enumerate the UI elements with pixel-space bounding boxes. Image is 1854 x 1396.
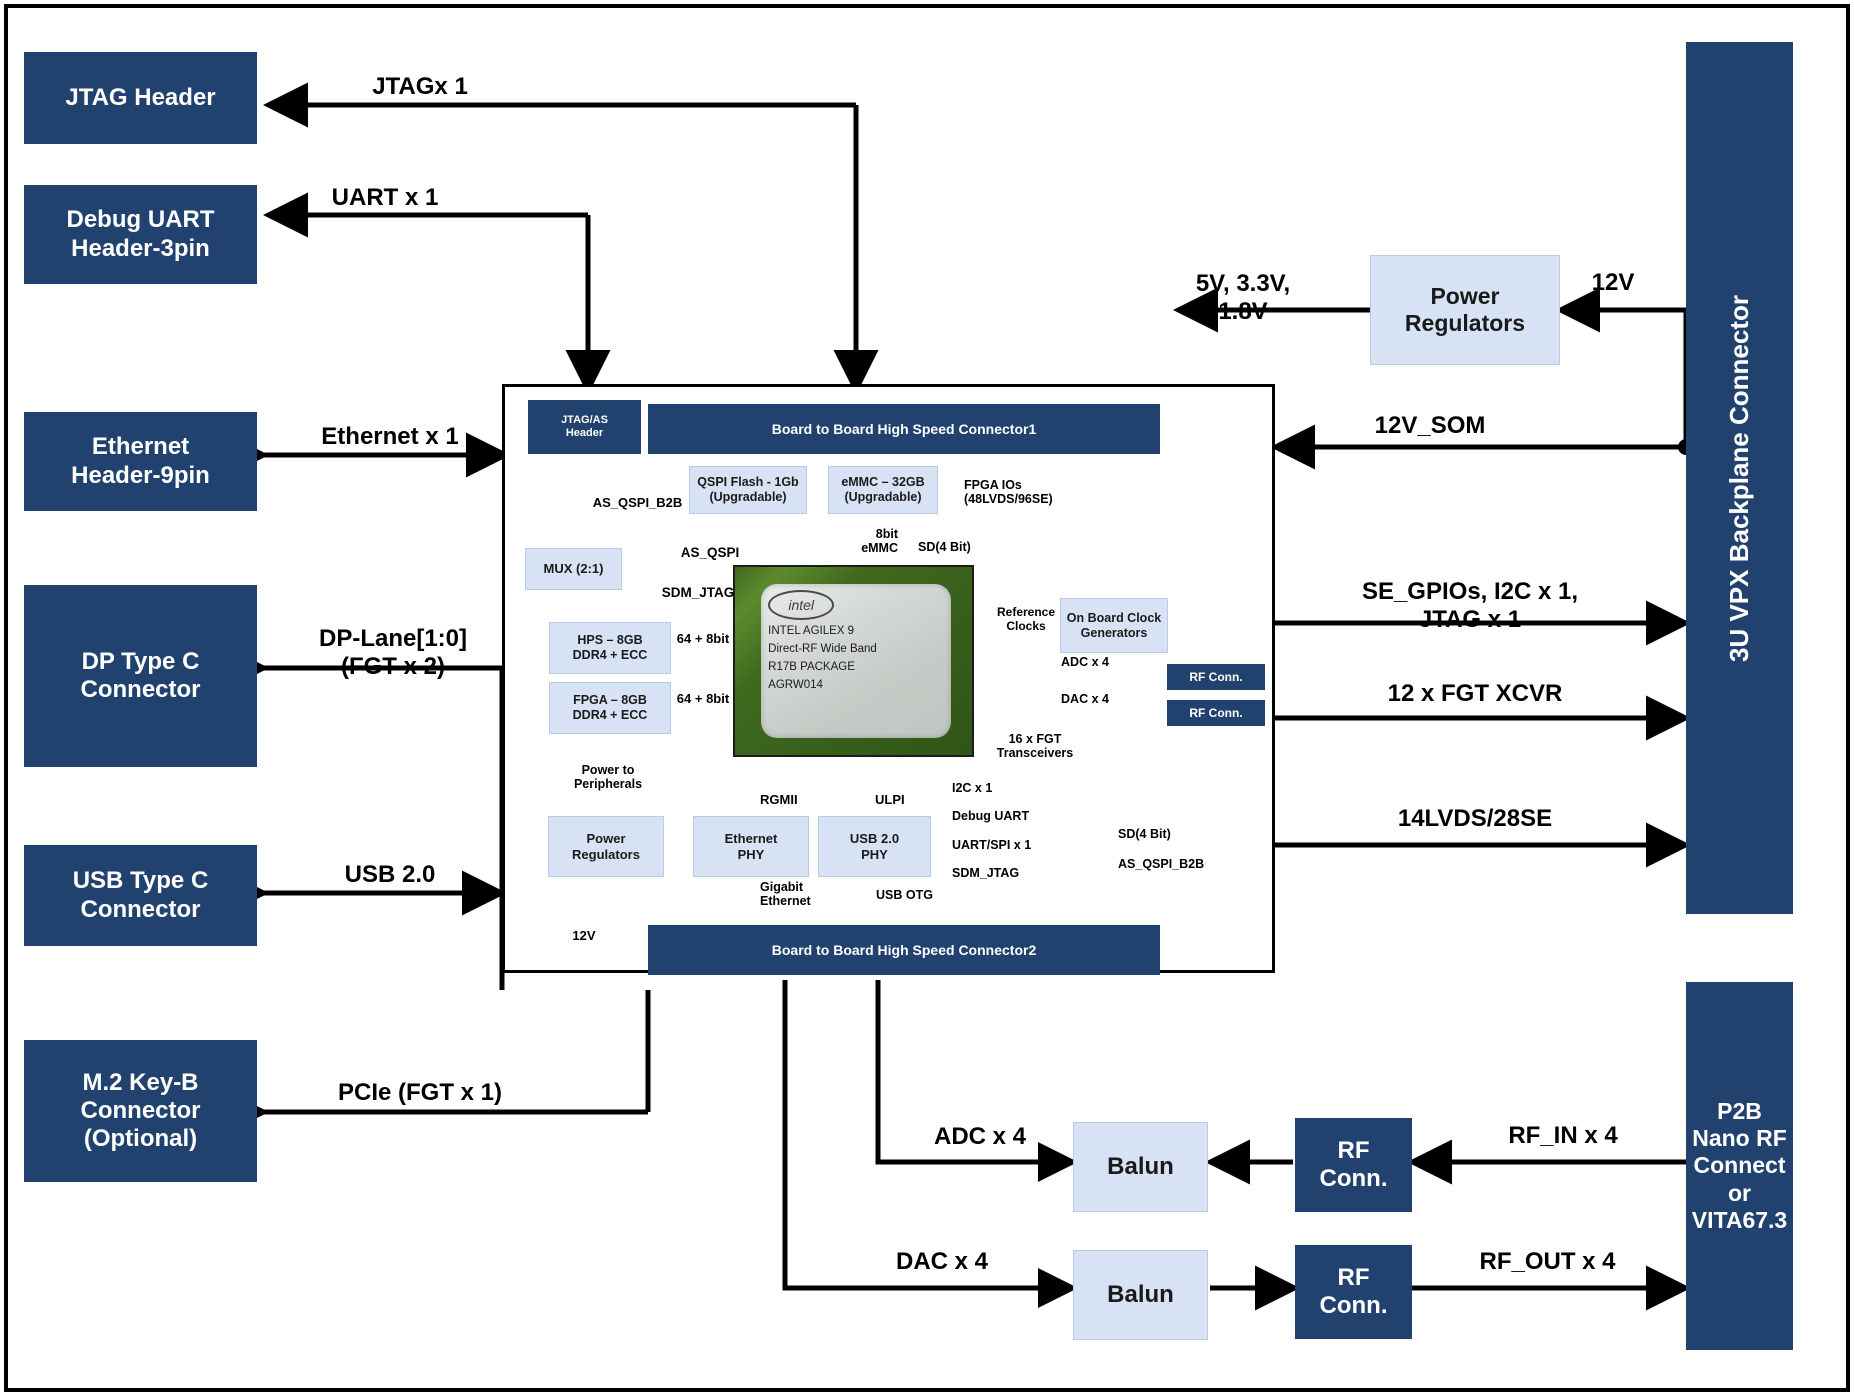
som-usb-phy-label: USB 2.0 PHY — [850, 831, 899, 862]
rf-conn-out-label: RF Conn. — [1320, 1264, 1388, 1321]
som-fpga-ddr-label: FPGA – 8GB DDR4 + ECC — [573, 693, 648, 723]
fgt-transceivers-label: 16 x FGT Transceivers — [984, 732, 1086, 761]
sdm-jtag-2-label: SDM_JTAG — [952, 866, 1062, 880]
left-block-label: JTAG Header — [65, 84, 215, 112]
rf-conn-in-label: RF Conn. — [1320, 1137, 1388, 1194]
left-block-label: M.2 Key-B Connector (Optional) — [81, 1069, 201, 1154]
som-b2b-connector2-label: Board to Board High Speed Connector2 — [772, 942, 1036, 959]
12v-label: 12V — [562, 929, 606, 944]
vpx-backplane-connector[interactable]: 3U VPX Backplane Connector — [1686, 42, 1793, 914]
left-block-dp-type-c-connector[interactable]: DP Type C Connector — [24, 585, 257, 767]
rf-out-x4-label: RF_OUT x 4 — [1440, 1248, 1655, 1276]
power-regulators-label: Power Regulators — [1405, 283, 1525, 337]
left-block-m2-key-b-connector[interactable]: M.2 Key-B Connector (Optional) — [24, 1040, 257, 1182]
som-clock-generators[interactable]: On Board Clock Generators — [1060, 598, 1168, 653]
som-ethernet-phy-label: Ethernet PHY — [725, 831, 778, 862]
as-qspi-label: AS_QSPI — [665, 545, 755, 561]
som-emmc-label: eMMC – 32GB (Upgradable) — [841, 475, 924, 505]
som-qspi-flash-label: QSPI Flash - 1Gb (Upgradable) — [697, 475, 798, 505]
left-block-label: Ethernet Header-9pin — [71, 433, 210, 490]
se-gpios-label: SE_GPIOs, I2C x 1, JTAG x 1 — [1290, 578, 1650, 633]
fpga-ios-label: FPGA IOs (48LVDS/96SE) — [964, 478, 1084, 507]
12v-som-label: 12V_SOM — [1310, 412, 1550, 440]
som-hps-ddr-label: HPS – 8GB DDR4 + ECC — [573, 633, 648, 663]
left-block-usb-type-c-connector[interactable]: USB Type C Connector — [24, 845, 257, 946]
som-clock-generators-label: On Board Clock Generators — [1067, 611, 1161, 641]
balun-dac[interactable]: Balun — [1073, 1250, 1208, 1340]
as-qspi-b2b-label: AS_QSPI_B2B — [575, 496, 700, 511]
som-hps-ddr[interactable]: HPS – 8GB DDR4 + ECC — [549, 622, 671, 674]
som-jtag-as-header[interactable]: JTAG/AS Header — [528, 400, 641, 454]
som-b2b-connector1[interactable]: Board to Board High Speed Connector1 — [648, 404, 1160, 454]
som-mux-label: MUX (2:1) — [544, 561, 604, 576]
usb20-label: USB 2.0 — [300, 861, 480, 889]
i2c-x1-label: I2C x 1 — [952, 781, 1062, 795]
som-rf-conn-adc[interactable]: RF Conn. — [1167, 664, 1265, 690]
intel-logo-text: intel — [788, 597, 814, 613]
sd4bit-2-label: SD(4 Bit) — [1118, 827, 1208, 841]
ddr-bus-1-label: 64 + 8bit — [663, 632, 743, 647]
dp-lane-label: DP-Lane[1:0] (FGT x 2) — [278, 625, 508, 680]
rf-in-x4-label: RF_IN x 4 — [1463, 1122, 1663, 1150]
reference-clocks-label: Reference Clocks — [986, 606, 1066, 634]
power-to-peripherals-label: Power to Peripherals — [552, 763, 664, 792]
som-rf-conn-dac-label: RF Conn. — [1189, 706, 1242, 720]
power-regulators-block[interactable]: Power Regulators — [1370, 255, 1560, 365]
lvds-label: 14LVDS/28SE — [1340, 805, 1610, 833]
som-qspi-flash[interactable]: QSPI Flash - 1Gb (Upgradable) — [689, 466, 807, 514]
rf-conn-in[interactable]: RF Conn. — [1295, 1118, 1412, 1212]
debug-uart-label: Debug UART — [952, 809, 1067, 823]
som-rf-conn-adc-label: RF Conn. — [1189, 670, 1242, 684]
som-b2b-connector2[interactable]: Board to Board High Speed Connector2 — [648, 925, 1160, 975]
left-block-label: Debug UART Header-3pin — [67, 206, 215, 263]
8bit-emmc-label: 8bit eMMC — [822, 527, 898, 556]
som-jtag-as-header-label: JTAG/AS Header — [561, 414, 608, 440]
power-rails-label: 5V, 3.3V, 1.8V — [1148, 270, 1338, 325]
balun-adc-label: Balun — [1107, 1153, 1174, 1181]
som-ethernet-phy[interactable]: Ethernet PHY — [693, 816, 809, 877]
rgmii-label: RGMII — [760, 793, 832, 808]
ulpi-label: ULPI — [875, 793, 945, 808]
som-rf-conn-dac[interactable]: RF Conn. — [1167, 700, 1265, 726]
left-block-label: DP Type C Connector — [81, 648, 201, 705]
p2b-nano-rf-connector[interactable]: P2B Nano RF Connect or VITA67.3 — [1686, 982, 1793, 1350]
fpga-chip-markings: INTEL AGILEX 9 Direct-RF Wide Band R17B … — [768, 623, 877, 694]
dac-x4-label: DAC x 4 — [1040, 692, 1130, 706]
som-power-regulators[interactable]: Power Regulators — [548, 816, 664, 877]
som-fpga-ddr[interactable]: FPGA – 8GB DDR4 + ECC — [549, 682, 671, 734]
as-qspi-b2b-2-label: AS_QSPI_B2B — [1118, 857, 1243, 871]
intel-logo-icon: intel — [768, 590, 834, 620]
dac-x4-bottom-label: DAC x 4 — [862, 1248, 1022, 1276]
left-block-debug-uart-header[interactable]: Debug UART Header-3pin — [24, 185, 257, 284]
balun-adc[interactable]: Balun — [1073, 1122, 1208, 1212]
jtag-x1-label: JTAGx 1 — [330, 73, 510, 101]
som-power-regulators-label: Power Regulators — [572, 831, 640, 862]
p2b-nano-rf-connector-label: P2B Nano RF Connect or VITA67.3 — [1692, 1098, 1787, 1234]
ddr-bus-2-label: 64 + 8bit — [663, 692, 743, 707]
left-block-label: USB Type C Connector — [73, 867, 209, 924]
som-usb-phy[interactable]: USB 2.0 PHY — [818, 816, 931, 877]
uart-spi-label: UART/SPI x 1 — [952, 838, 1072, 852]
fpga-chip-package[interactable]: intel INTEL AGILEX 9 Direct-RF Wide Band… — [733, 565, 974, 757]
balun-dac-label: Balun — [1107, 1281, 1174, 1309]
usb-otg-label: USB OTG — [876, 888, 962, 902]
12v-input-label: 12V — [1573, 269, 1653, 297]
left-block-ethernet-header[interactable]: Ethernet Header-9pin — [24, 412, 257, 511]
block-diagram-canvas: JTAG Header Debug UART Header-3pin Ether… — [0, 0, 1854, 1396]
som-emmc[interactable]: eMMC – 32GB (Upgradable) — [828, 466, 938, 514]
adc-x4-label: ADC x 4 — [1040, 655, 1130, 669]
sd4bit-label: SD(4 Bit) — [918, 540, 1002, 554]
adc-x4-bottom-label: ADC x 4 — [900, 1123, 1060, 1151]
som-mux[interactable]: MUX (2:1) — [525, 548, 622, 590]
som-b2b-connector1-label: Board to Board High Speed Connector1 — [772, 421, 1036, 438]
fgt-xcvr-label: 12 x FGT XCVR — [1330, 680, 1620, 708]
gigabit-ethernet-label: Gigabit Ethernet — [760, 880, 846, 909]
uart-x1-label: UART x 1 — [290, 184, 480, 212]
left-block-jtag-header[interactable]: JTAG Header — [24, 52, 257, 144]
pcie-label: PCIe (FGT x 1) — [290, 1079, 550, 1107]
vpx-backplane-connector-label: 3U VPX Backplane Connector — [1724, 295, 1755, 662]
ethernet-x1-label: Ethernet x 1 — [280, 423, 500, 451]
rf-conn-out[interactable]: RF Conn. — [1295, 1245, 1412, 1339]
sdm-jtag-label: SDM_JTAG — [648, 585, 748, 601]
